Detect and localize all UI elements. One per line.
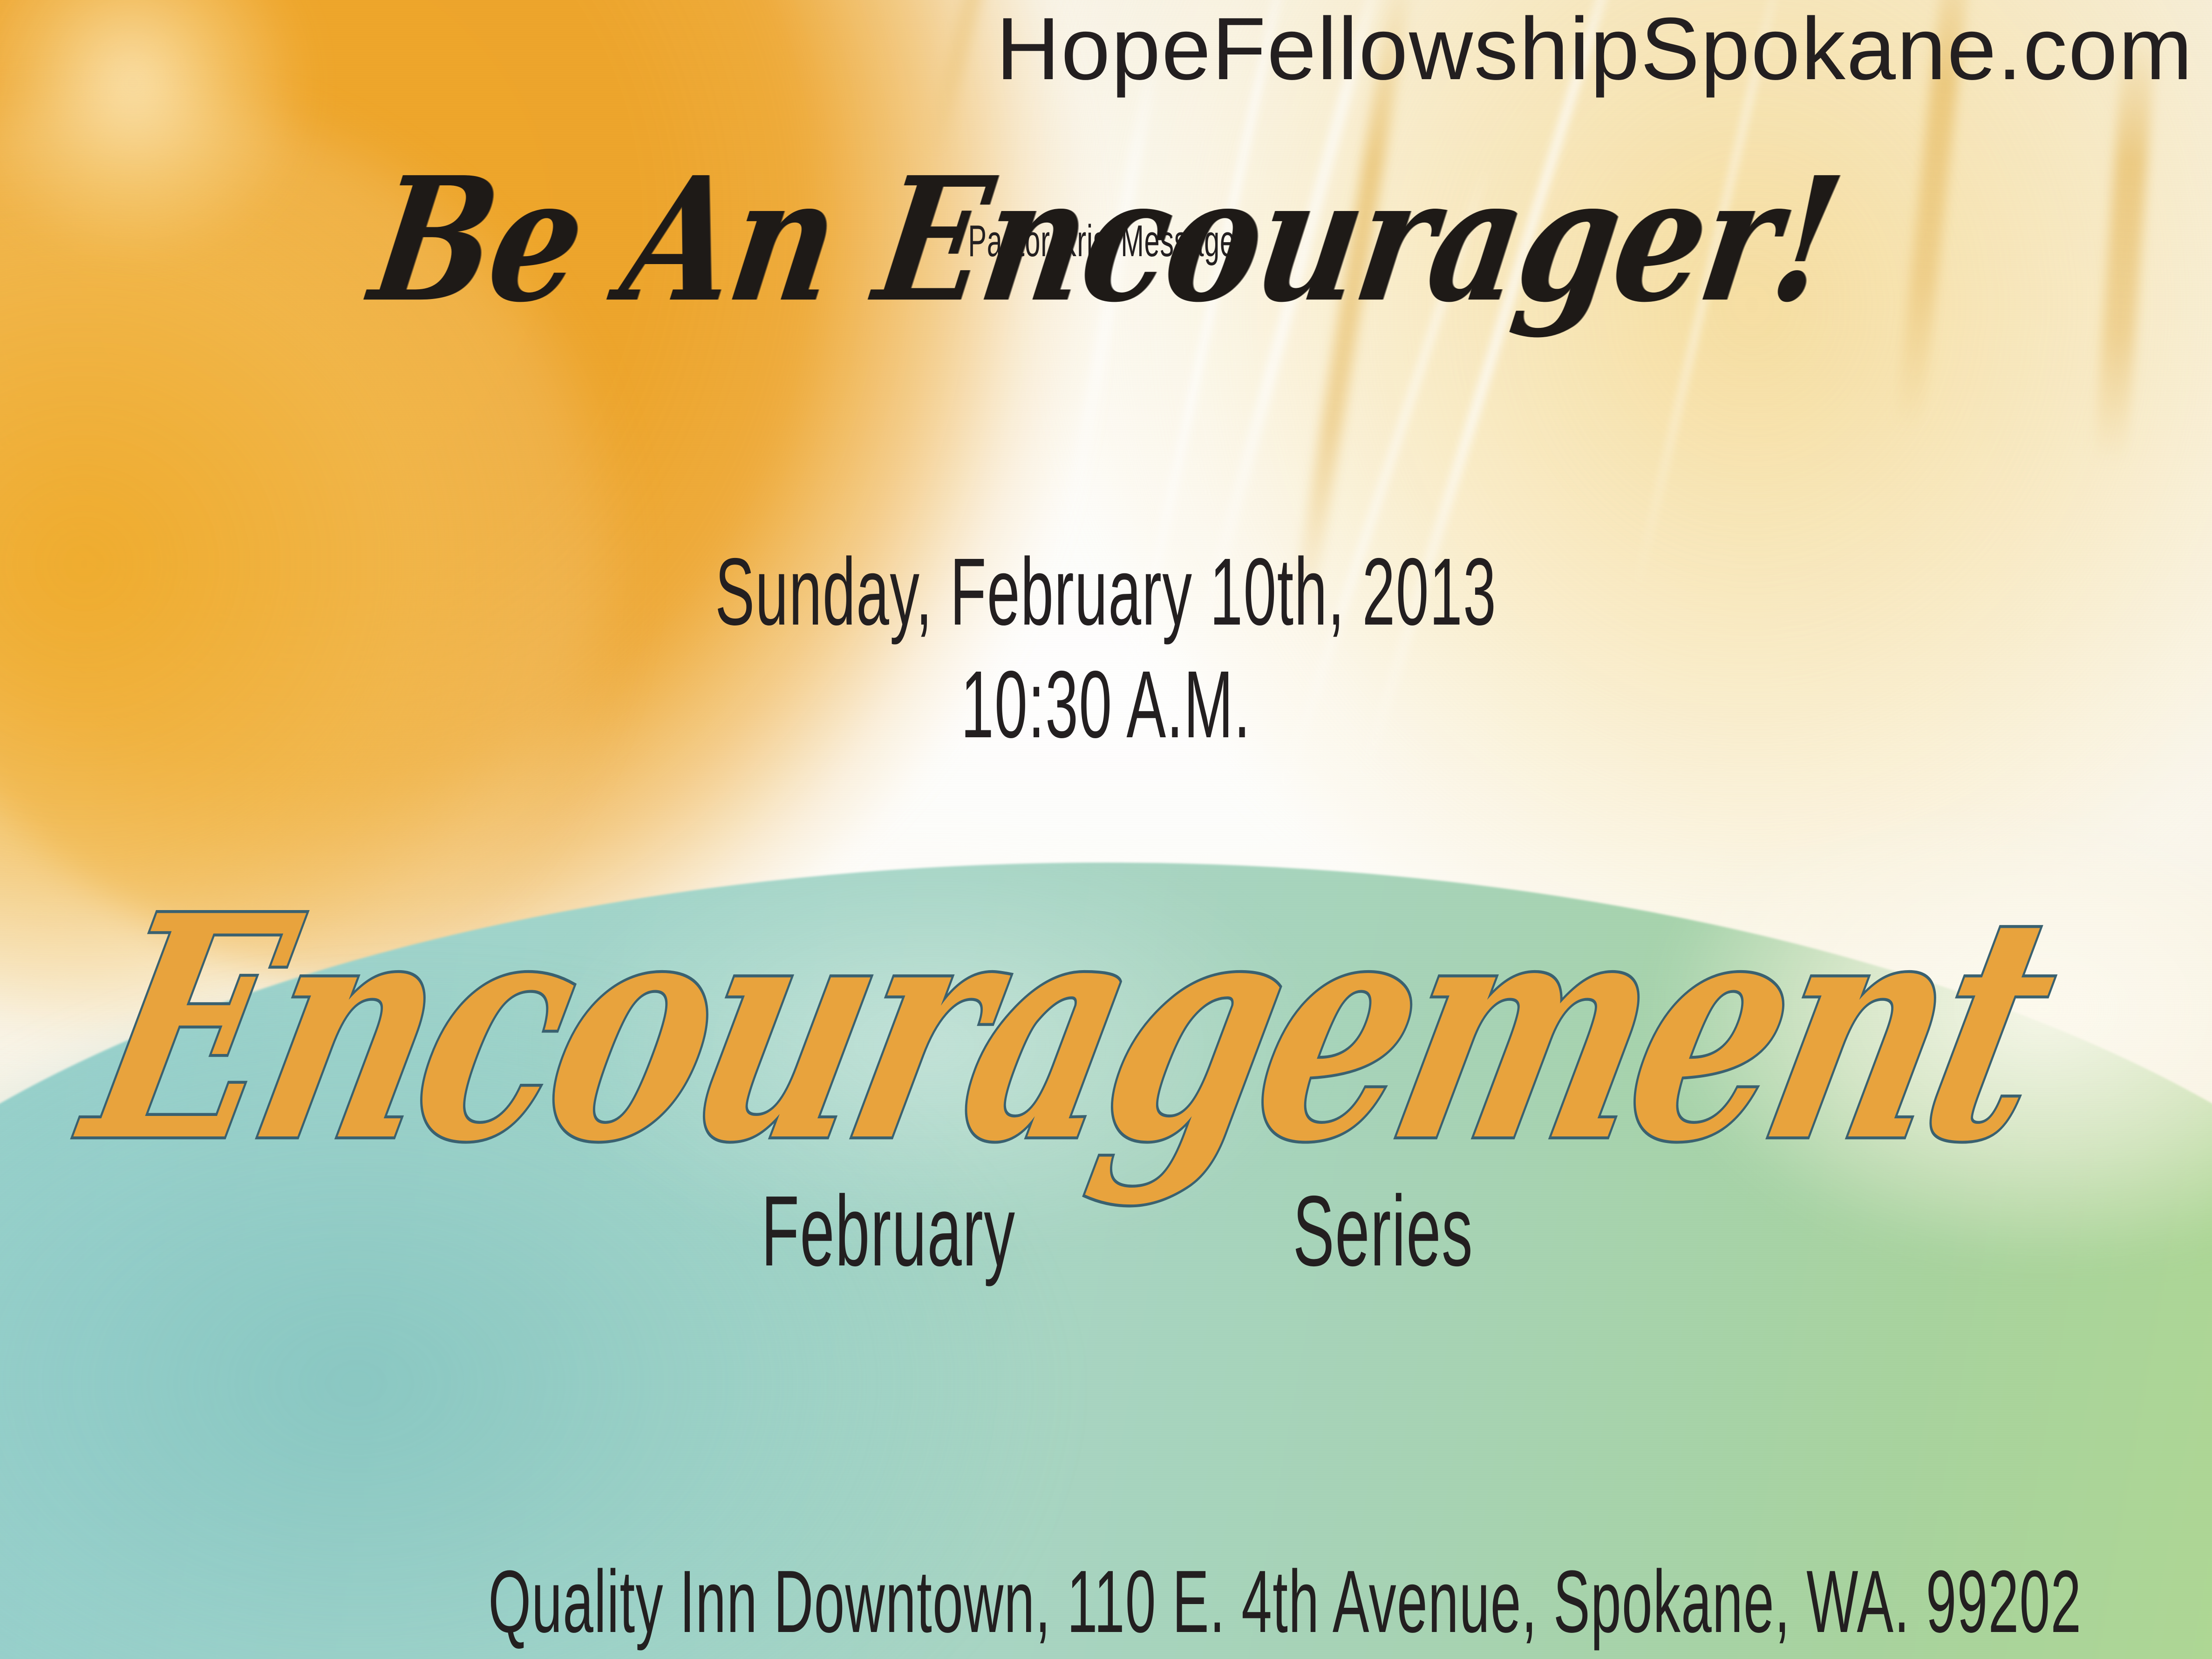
venue-address: Quality Inn Downtown, 110 E. 4th Avenue,…	[0, 1557, 2212, 1646]
service-time: 10:30 A.M.	[0, 648, 2212, 761]
service-date: Sunday, February 10th, 2013	[0, 536, 2212, 648]
website-url[interactable]: HopeFellowshipSpokane.com	[996, 5, 2193, 93]
flyer-canvas: HopeFellowshipSpokane.com Pastor Kris’ M…	[0, 0, 2212, 1659]
sermon-title: Be An Encourager!	[0, 155, 2212, 325]
series-logo-block: February Series Encouragement	[0, 876, 2212, 1425]
service-datetime: Sunday, February 10th, 2013 10:30 A.M.	[0, 536, 2212, 761]
website-url-text: HopeFellowshipSpokane.com	[996, 0, 2193, 98]
encouragement-script-logo: Encouragement	[0, 876, 2212, 1182]
venue-address-text: Quality Inn Downtown, 110 E. 4th Avenue,…	[488, 1557, 2082, 1646]
service-date-text: Sunday, February 10th, 2013	[715, 536, 1497, 648]
service-time-text: 10:30 A.M.	[961, 648, 1251, 761]
